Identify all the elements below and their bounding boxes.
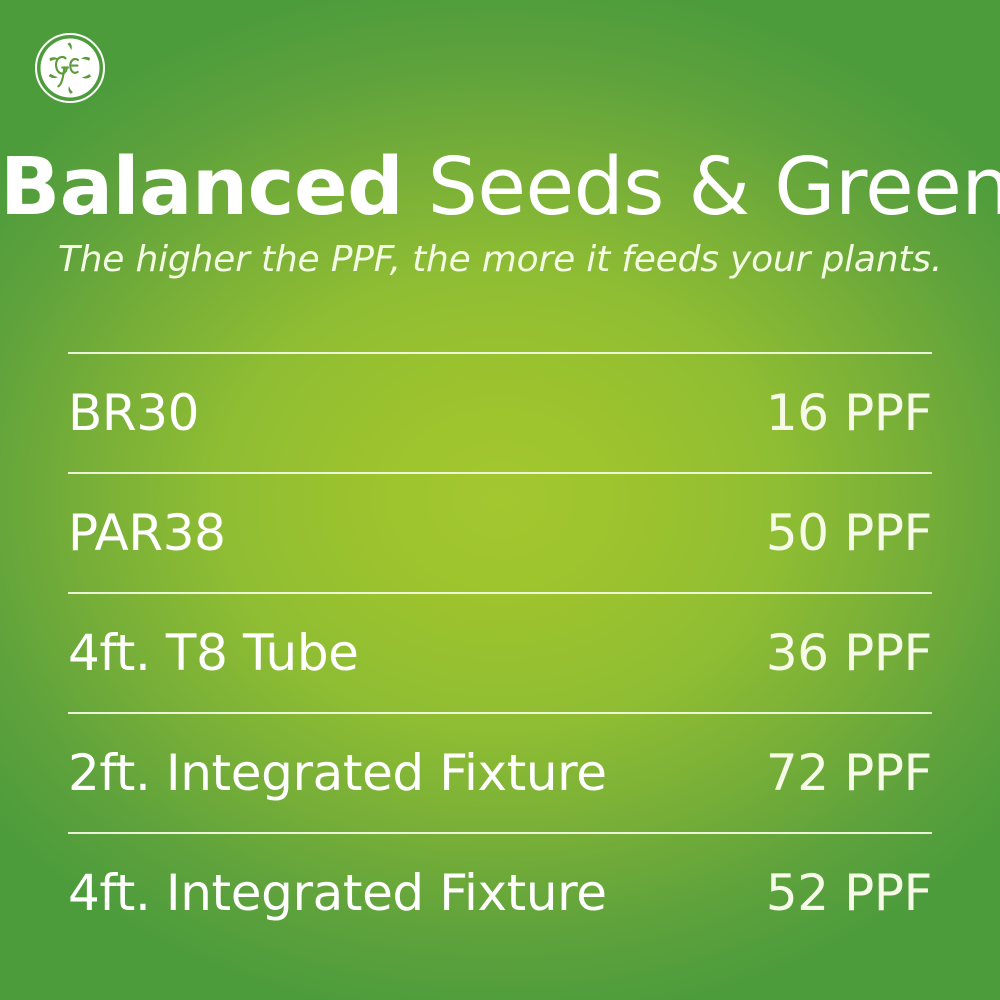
table-divider: [68, 832, 932, 834]
table-divider: [68, 712, 932, 714]
table-row: 2ft. Integrated Fixture 72 PPF: [68, 714, 932, 832]
table-row: 4ft. Integrated Fixture 52 PPF: [68, 834, 932, 952]
table-row: PAR38 50 PPF: [68, 474, 932, 592]
row-label: 4ft. T8 Tube: [68, 628, 359, 678]
row-value: 36 PPF: [766, 628, 932, 678]
page-title: Balanced Seeds & Greens: [0, 148, 1000, 227]
page-title-strong: Balanced: [0, 141, 403, 233]
ppf-table: BR30 16 PPF PAR38 50 PPF 4ft. T8 Tube 36…: [68, 352, 932, 952]
row-value: 16 PPF: [766, 388, 932, 438]
row-value: 50 PPF: [766, 508, 932, 558]
row-label: PAR38: [68, 508, 226, 558]
table-row: 4ft. T8 Tube 36 PPF: [68, 594, 932, 712]
row-label: BR30: [68, 388, 199, 438]
promo-canvas: Balanced Seeds & Greens The higher the P…: [0, 0, 1000, 1000]
headline-block: Balanced Seeds & Greens The higher the P…: [0, 148, 1000, 280]
row-label: 2ft. Integrated Fixture: [68, 748, 607, 798]
row-label: 4ft. Integrated Fixture: [68, 868, 607, 918]
page-subtitle: The higher the PPF, the more it feeds yo…: [0, 227, 1000, 280]
ge-monogram-icon: [34, 32, 106, 104]
table-row: BR30 16 PPF: [68, 354, 932, 472]
row-value: 52 PPF: [766, 868, 932, 918]
table-divider: [68, 472, 932, 474]
table-divider: [68, 352, 932, 354]
row-value: 72 PPF: [766, 748, 932, 798]
table-divider: [68, 592, 932, 594]
page-title-light: Seeds & Greens: [403, 141, 1000, 233]
